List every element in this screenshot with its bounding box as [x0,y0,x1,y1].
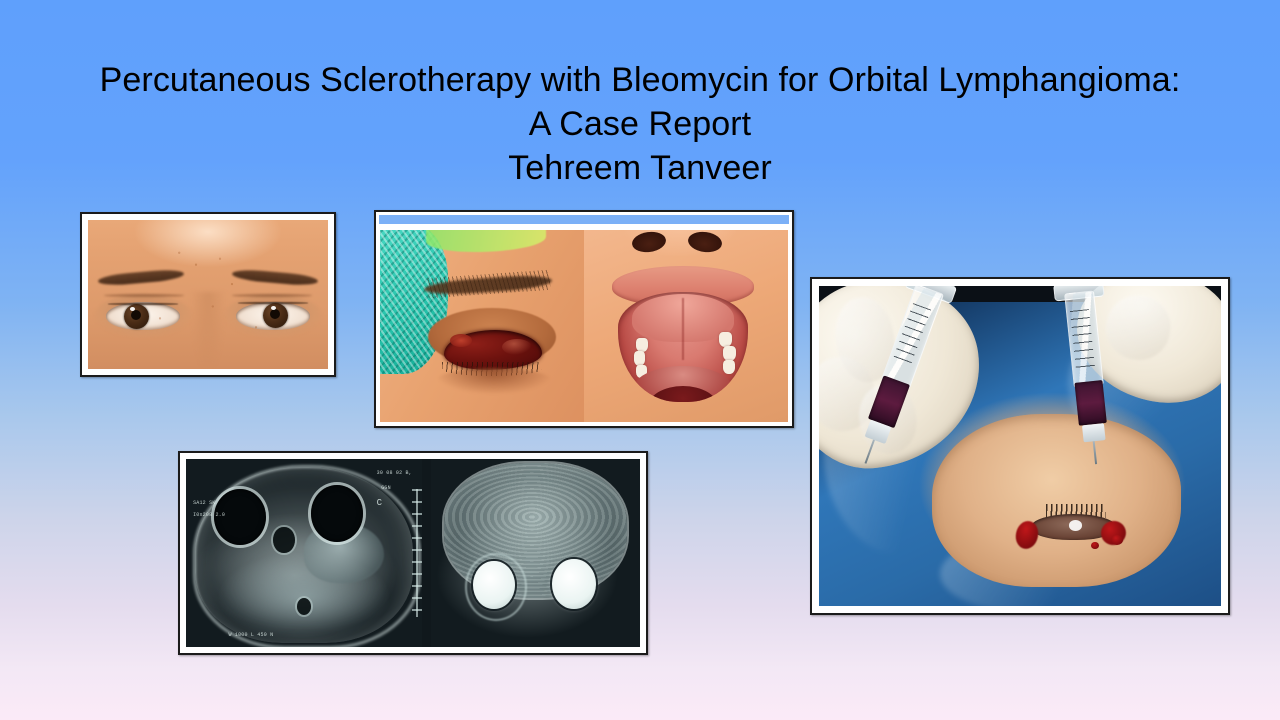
figure-mri-orbits: SA12 SK I0x208 2.0 W 1000 L 450 N 30 08 … [178,451,648,655]
author-line: Tehreem Tanveer [0,146,1280,190]
figure-top-strip [379,215,789,224]
blood-stain [1111,535,1123,545]
mri-scale-bar [416,489,418,617]
bleomycin-fluid [1075,380,1107,426]
eyes-photo-art [88,220,328,369]
page-title: Percutaneous Sclerotherapy with Bleomyci… [0,58,1280,190]
intraoral-view [584,230,788,422]
figure-patient-eyes [80,212,336,377]
tooth [634,351,646,365]
title-line-2: A Case Report [0,102,1280,146]
globe-right [552,559,596,610]
mri-annotation: SA12 SK [193,500,215,507]
presentation-slide: Percutaneous Sclerotherapy with Bleomyci… [0,0,1280,720]
tooth [719,332,732,347]
skin-texture [88,220,328,369]
mri-annotation: 30 08 02 B, [377,470,412,477]
midline-raphe [682,298,684,360]
title-line-1: Percutaneous Sclerotherapy with Bleomyci… [0,58,1280,102]
intraoperative-injection-photo [819,286,1221,606]
mri-annotation: I0x208 2.0 [193,512,225,519]
intraoperative-eye-view [380,230,584,422]
surgical-exposure-area [932,414,1181,587]
tooth [723,360,735,374]
syringe-graduations [1070,309,1095,368]
orbit-right [311,485,363,541]
mri-axial-view [431,459,640,647]
oral-cavity [618,292,748,402]
globe-left [473,561,515,610]
mri-annotation: GGN [381,485,391,492]
blood-stain [1091,542,1098,549]
ethmoid-sinus [273,527,294,553]
tooth [636,338,648,352]
needle-hub [1082,424,1106,443]
tooth [723,346,736,361]
sterile-field [819,286,1221,606]
mri-orbit-scan: SA12 SK I0x208 2.0 W 1000 L 450 N 30 08 … [186,459,640,647]
lesion-and-oral-photo [380,230,788,422]
nasal-septum-space [297,598,311,615]
lower-eyelid [436,368,552,394]
mri-annotation: W 1000 L 450 N [228,632,273,639]
patient-eyes-photo [88,220,328,369]
finger [1102,290,1176,364]
figure-sclerotherapy-injection [810,277,1230,615]
figure-lesion-and-oral [374,210,794,428]
mri-annotation: C [377,500,383,507]
